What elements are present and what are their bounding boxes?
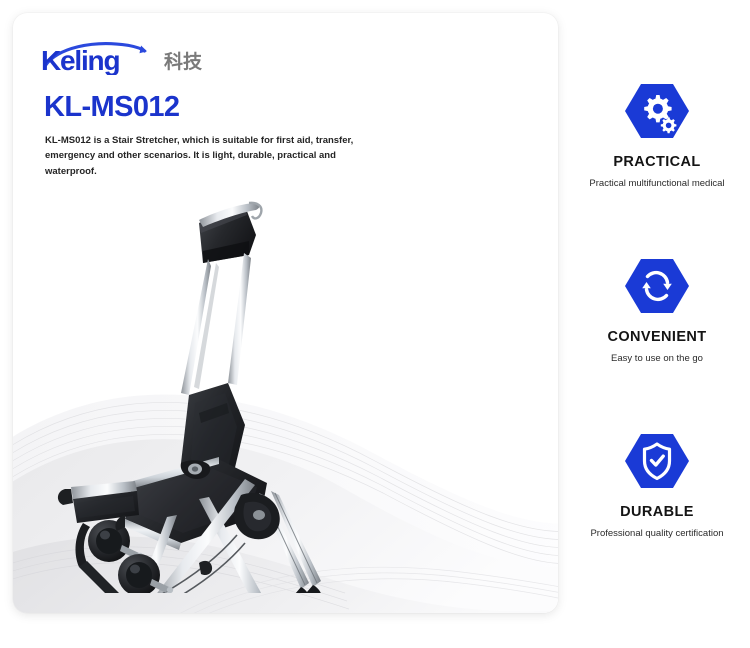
feature-item-durable[interactable]: DURABLE Professional quality certificati… [564,430,750,539]
brand-logo-chinese-name: 科技 [164,53,202,72]
feature-item-practical[interactable]: PRACTICAL Practical multifunctional medi… [564,80,750,189]
feature-subtitle: Practical multifunctional medical [564,178,750,189]
feature-title: DURABLE [564,505,750,520]
keling-wordmark: Keling [41,39,161,75]
shield-check-icon [625,430,689,492]
feature-column: PRACTICAL Practical multifunctional medi… [564,0,750,648]
feature-title: CONVENIENT [564,330,750,345]
feature-subtitle: Easy to use on the go [564,353,750,364]
gears-icon [625,80,689,142]
feature-title: PRACTICAL [564,155,750,170]
product-photo [13,163,558,593]
feature-subtitle: Professional quality certification [564,528,750,539]
feature-item-convenient[interactable]: CONVENIENT Easy to use on the go [564,255,750,364]
sync-arrows-icon [625,255,689,317]
product-card: Keling 科技 KL-MS012 KL-MS012 is a Stair S… [13,13,558,613]
product-title: KL-MS012 [44,93,179,122]
brand-logo: Keling 科技 [41,39,202,75]
svg-text:Keling: Keling [41,45,119,75]
